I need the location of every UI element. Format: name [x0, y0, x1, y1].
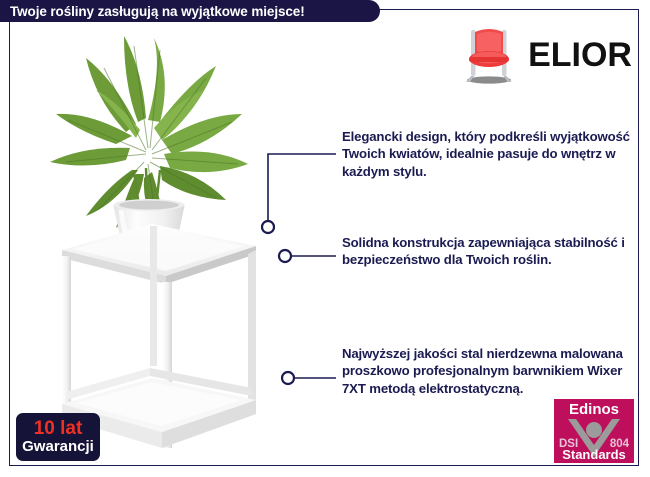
headline-text: Twoje rośliny zasługują na wyjątkowe mie…	[10, 4, 305, 19]
plant-stand-illustration	[20, 28, 320, 458]
product-image	[20, 28, 320, 458]
red-chair-icon	[458, 24, 520, 86]
header-banner: Twoje rośliny zasługują na wyjątkowe mie…	[0, 0, 380, 22]
certificate-badge: Edinos DSI 804 Standards	[554, 399, 634, 463]
stand-top-plate	[62, 224, 256, 284]
feature-text-3: Najwyższej jakości stal nierdzewna malow…	[342, 345, 632, 397]
feature-text-2: Solidna konstrukcja zapewniająca stabiln…	[342, 234, 632, 269]
certificate-standards-label: Standards	[554, 447, 634, 462]
warranty-years: 10 lat	[34, 419, 83, 438]
warranty-label: Gwarancji	[22, 438, 94, 455]
infographic-page: Twoje rośliny zasługują na wyjątkowe mie…	[0, 0, 650, 477]
feature-text-1: Elegancki design, który podkreśli wyjątk…	[342, 128, 632, 180]
brand-logo: ELIOR	[458, 24, 632, 86]
warranty-badge: 10 lat Gwarancji	[16, 413, 100, 461]
brand-wordmark: ELIOR	[528, 38, 632, 72]
certificate-name: Edinos	[554, 401, 634, 418]
